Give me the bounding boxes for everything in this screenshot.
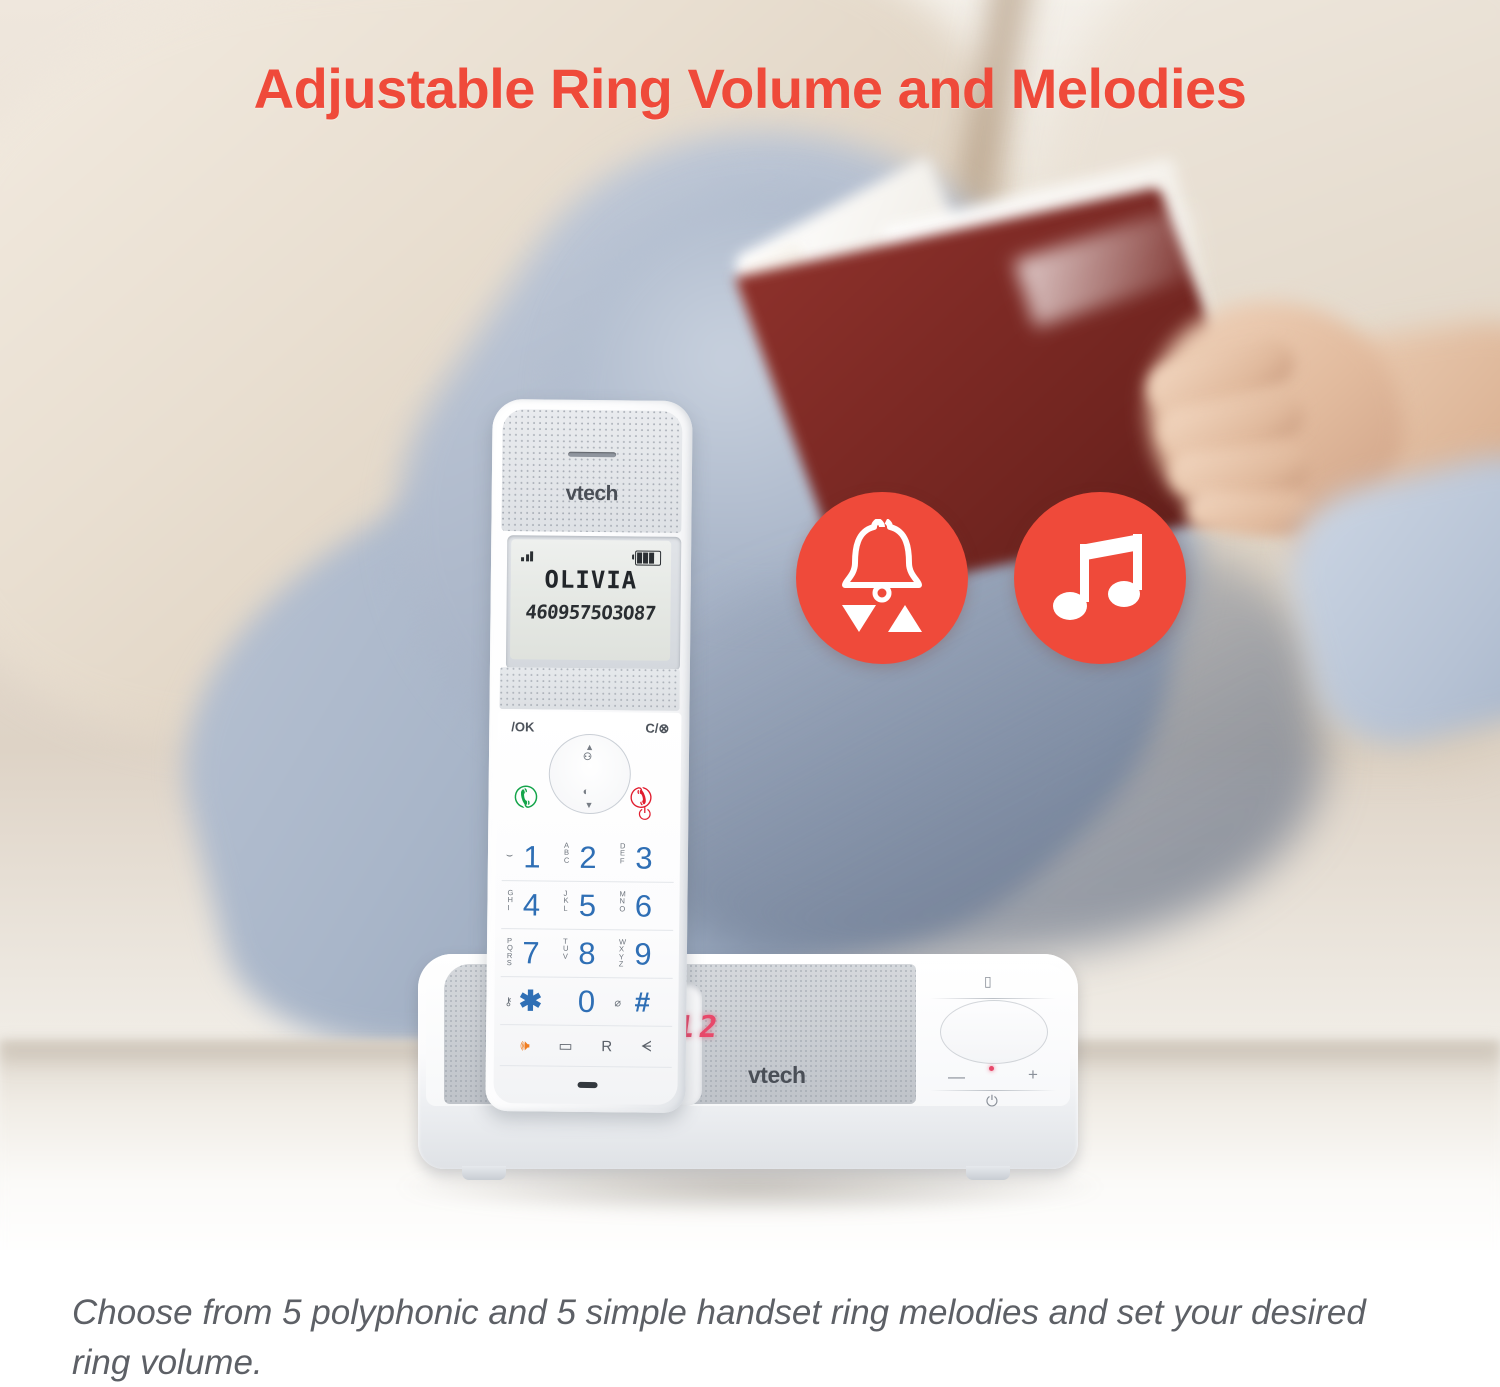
key-8[interactable]: TUV 8 <box>561 931 613 976</box>
nav-up-icon[interactable]: ▲ <box>585 742 594 752</box>
key-7[interactable]: PQRS 7 <box>505 931 557 976</box>
key-9[interactable]: WXYZ 9 <box>617 932 669 977</box>
lcd-status-bar <box>511 545 671 563</box>
talk-button-icon[interactable]: ✆ <box>508 779 546 818</box>
caller-number: 4609575O3O87 <box>510 601 671 625</box>
cordless-handset: vtech OLIVIA 4609575O3O87 /OK C/⊗ ▲ ⚇ <box>485 399 692 1113</box>
speakerphone-icon[interactable]: 🕪 <box>520 1037 530 1054</box>
key-digit: ✱ <box>519 987 543 1015</box>
keylock-icon: ⚷ <box>504 995 512 1008</box>
earpiece-slot <box>568 452 616 458</box>
contrast-icon[interactable]: ◐ <box>583 786 590 798</box>
badge-ring-volume <box>796 492 968 664</box>
key-digit: 6 <box>635 890 653 921</box>
handset-lower-grille <box>499 667 679 711</box>
handset-function-row: 🕪 ▭ R ᗕ <box>500 1025 672 1068</box>
bell-glyph <box>827 519 937 609</box>
base-nav-ring <box>940 1000 1048 1064</box>
key-star[interactable]: ⚷ ✱ <box>504 979 556 1024</box>
key-3[interactable]: DEF 3 <box>618 836 670 881</box>
key-digit: 3 <box>635 842 653 873</box>
key-2[interactable]: ABC 2 <box>562 835 614 880</box>
lifestyle-photo-scene: 12 vtech ▯ ✕ ◀◀ ▶▶ ▶/■ — + ⏻ <box>0 0 1500 1250</box>
badge-ring-melodies <box>1014 492 1186 664</box>
key-letters: WXYZ <box>619 938 626 968</box>
power-led <box>989 1066 994 1071</box>
key-digit: 5 <box>579 890 597 921</box>
keypad-row: GHI 4 JKL 5 MNO 6 <box>501 881 673 931</box>
signal-bars-icon <box>521 549 533 561</box>
base-foot <box>462 1166 506 1180</box>
key-digit: 4 <box>523 889 541 920</box>
volume-down-triangle-icon <box>842 605 876 632</box>
battery-icon <box>635 550 661 565</box>
power-icon[interactable]: ⏻ <box>986 1094 998 1109</box>
volume-arrows <box>842 605 922 632</box>
page-title: Adjustable Ring Volume and Melodies <box>0 56 1500 121</box>
key-0[interactable]: 0 <box>560 979 612 1024</box>
volume-down-icon[interactable]: — <box>948 1068 965 1085</box>
softkey-cancel-label[interactable]: C/⊗ <box>645 721 669 737</box>
nav-down-icon[interactable]: ▼ <box>584 800 593 810</box>
handset-brand-logo: vtech <box>492 481 692 507</box>
handset-locator-icon[interactable]: ▯ <box>984 974 992 988</box>
key-4[interactable]: GHI 4 <box>505 883 557 928</box>
mute-icon: ⌀ <box>614 996 621 1009</box>
key-hash[interactable]: ⌀ # <box>616 980 668 1025</box>
panel-divider <box>930 998 1056 999</box>
base-brand-logo: vtech <box>748 1062 806 1089</box>
keypad-row: ⚷ ✱ 0 ⌀ # <box>500 977 672 1027</box>
key-letters: JKL <box>563 889 568 912</box>
phonebook-icon[interactable]: ▭ <box>558 1037 572 1055</box>
key-digit: 7 <box>522 937 540 968</box>
key-letters: PQRS <box>507 937 513 967</box>
volume-boost-icon[interactable]: ᗕ <box>641 1038 652 1055</box>
feature-caption: Choose from 5 polyphonic and 5 simple ha… <box>72 1288 1402 1387</box>
volume-up-triangle-icon <box>888 605 922 632</box>
keypad-row: ⌣ 1 ABC 2 DEF 3 <box>502 833 674 883</box>
key-letters: GHI <box>507 889 513 912</box>
key-1-symbol: ⌣ <box>506 849 513 862</box>
microphone-slot <box>578 1082 598 1088</box>
key-5[interactable]: JKL 5 <box>561 883 613 928</box>
handset-lcd-display: OLIVIA 4609575O3O87 <box>510 539 671 661</box>
intercom-icon[interactable]: ⚇ <box>583 752 592 763</box>
recall-icon[interactable]: R <box>601 1038 612 1055</box>
numeric-keypad: ⌣ 1 ABC 2 DEF 3 <box>500 833 674 1068</box>
key-letters: DEF <box>620 842 626 865</box>
key-1[interactable]: ⌣ 1 <box>506 835 558 880</box>
handset-power-icon[interactable]: ⏻ <box>638 807 651 825</box>
softkey-ok-label[interactable]: /OK <box>511 719 534 734</box>
panel-divider <box>930 1090 1056 1091</box>
key-letters: MNO <box>619 890 625 913</box>
keypad-row: PQRS 7 TUV 8 WXYZ 9 <box>501 929 673 979</box>
key-letters: ABC <box>564 841 570 864</box>
earpiece-grille <box>501 409 682 533</box>
base-foot <box>966 1166 1010 1180</box>
key-digit: 0 <box>578 986 596 1017</box>
handset-keypad-panel: /OK C/⊗ ▲ ⚇ ◐ ▼ ✆ ✆ ⏻ ⌣ 1 <box>493 711 681 1105</box>
key-letters: TUV <box>563 937 569 960</box>
volume-up-icon[interactable]: + <box>1028 1066 1038 1083</box>
music-note-icon <box>1048 526 1152 630</box>
key-digit: 8 <box>578 938 596 969</box>
bell-icon <box>827 519 937 637</box>
key-digit: 1 <box>523 841 541 872</box>
finger <box>1185 490 1310 534</box>
caller-name: OLIVIA <box>511 565 671 595</box>
key-digit: # <box>634 988 650 1016</box>
key-digit: 9 <box>634 938 652 969</box>
key-6[interactable]: MNO 6 <box>617 884 669 929</box>
key-digit: 2 <box>579 842 597 873</box>
product-feature-image: 12 vtech ▯ ✕ ◀◀ ▶▶ ▶/■ — + ⏻ <box>0 0 1500 1387</box>
